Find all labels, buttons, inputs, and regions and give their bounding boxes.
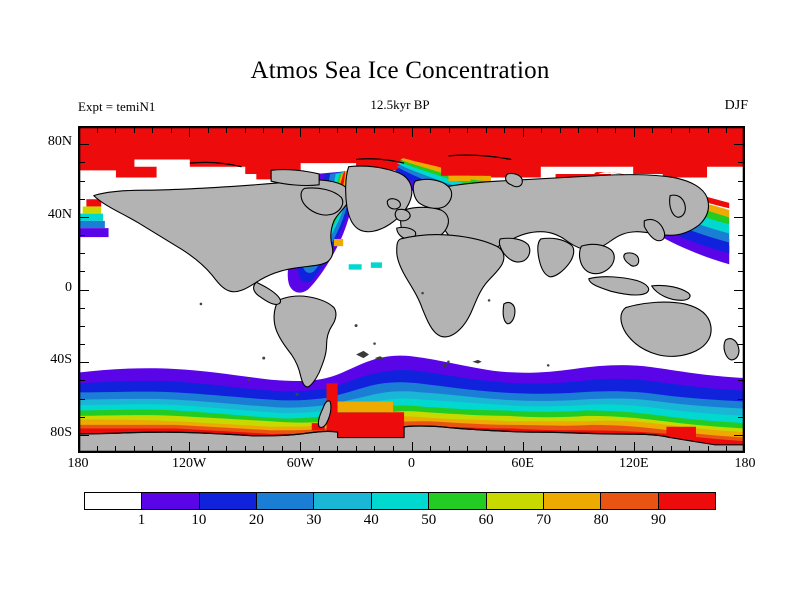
x-tick-top — [412, 126, 413, 137]
x-tick — [263, 446, 264, 453]
x-tick — [337, 446, 338, 453]
x-tick-top — [171, 126, 172, 133]
x-tick — [97, 446, 98, 453]
x-tick — [115, 446, 116, 453]
y-tick — [78, 344, 85, 345]
x-tick-top — [115, 126, 116, 133]
x-tick — [634, 442, 635, 453]
x-tick — [282, 446, 283, 453]
ice-band-90-100-barents — [441, 163, 515, 176]
y-tick-right — [738, 417, 745, 418]
colorbar-cell — [544, 493, 601, 509]
y-tick-right — [734, 144, 745, 145]
x-tick-top — [263, 126, 264, 133]
x-tick — [615, 446, 616, 453]
x-tick-top — [504, 126, 505, 133]
x-tick-top — [671, 126, 672, 133]
x-tick-top — [615, 126, 616, 133]
x-tick — [208, 446, 209, 453]
x-tick-top — [708, 126, 709, 133]
y-tick — [78, 144, 89, 145]
x-axis-label: 180 — [68, 456, 89, 472]
x-tick-top — [337, 126, 338, 133]
x-tick — [356, 446, 357, 453]
ice-patch-alaska-yellow — [83, 206, 101, 213]
colorbar-tick-label: 90 — [651, 512, 666, 529]
colorbar-cell — [659, 493, 715, 509]
colorbar-tick-label: 30 — [306, 512, 321, 529]
x-axis-label: 120E — [619, 456, 649, 472]
y-tick-right — [734, 217, 745, 218]
y-tick — [78, 290, 89, 291]
y-tick-right — [738, 199, 745, 200]
x-tick-top — [152, 126, 153, 133]
y-axis-label: 80S — [50, 425, 72, 441]
x-tick — [486, 446, 487, 453]
world-map — [79, 127, 744, 452]
colorbar-tick-label: 60 — [479, 512, 494, 529]
colorbar-tick-label: 80 — [594, 512, 609, 529]
land-canadian-archipelago — [271, 170, 319, 186]
y-tick — [78, 399, 85, 400]
x-tick — [449, 446, 450, 453]
x-tick — [226, 446, 227, 453]
x-tick-top — [430, 126, 431, 133]
x-axis-label: 0 — [408, 456, 415, 472]
x-tick-top — [689, 126, 690, 133]
colorbar-tick-label: 70 — [536, 512, 551, 529]
y-tick — [78, 162, 85, 163]
colorbar-cell — [200, 493, 257, 509]
x-tick — [671, 446, 672, 453]
x-tick — [504, 446, 505, 453]
y-tick-right — [738, 326, 745, 327]
x-tick-top — [541, 126, 542, 133]
x-tick-top — [634, 126, 635, 137]
land-iceland — [387, 199, 400, 209]
y-tick — [78, 326, 85, 327]
y-tick-right — [734, 435, 745, 436]
y-tick — [78, 271, 85, 272]
y-tick-right — [738, 253, 745, 254]
ice-patch-alaska-blue — [79, 221, 105, 228]
x-tick-top — [449, 126, 450, 133]
x-tick — [652, 446, 653, 453]
y-tick-right — [734, 290, 745, 291]
x-tick — [393, 446, 394, 453]
x-tick-top — [189, 126, 190, 137]
y-tick-right — [738, 181, 745, 182]
x-tick — [189, 442, 190, 453]
colorbar-cell — [257, 493, 314, 509]
ice-patch-70-90-weddell — [338, 401, 393, 412]
map-plot-area — [78, 126, 745, 453]
x-tick — [134, 446, 135, 453]
x-tick-top — [374, 126, 375, 133]
colorbar-cell — [85, 493, 142, 509]
y-axis-label: 80N — [48, 134, 72, 150]
x-axis-label: 60E — [511, 456, 534, 472]
x-tick-top — [393, 126, 394, 133]
x-axis-label: 120W — [172, 456, 206, 472]
x-tick — [467, 446, 468, 453]
x-tick-top — [134, 126, 135, 133]
y-tick-right — [738, 308, 745, 309]
colorbar-tick-label: 50 — [421, 512, 436, 529]
y-tick — [78, 308, 85, 309]
y-axis-label: 40S — [50, 352, 72, 368]
x-tick-top — [208, 126, 209, 133]
x-tick-top — [300, 126, 301, 137]
x-tick — [245, 446, 246, 453]
x-tick-top — [560, 126, 561, 133]
x-tick-top — [282, 126, 283, 133]
x-tick — [560, 446, 561, 453]
x-tick-top — [486, 126, 487, 133]
x-tick — [300, 442, 301, 453]
colorbar-cell — [142, 493, 199, 509]
x-axis-label: 180 — [735, 456, 756, 472]
colorbar-cell — [372, 493, 429, 509]
x-tick — [541, 446, 542, 453]
x-tick — [708, 446, 709, 453]
x-tick — [319, 446, 320, 453]
y-tick — [78, 235, 85, 236]
season-label: DJF — [725, 98, 748, 114]
colorbar-cell — [429, 493, 486, 509]
x-tick-top — [578, 126, 579, 133]
colorbar-tick-label: 10 — [191, 512, 206, 529]
y-tick-right — [738, 162, 745, 163]
y-tick — [78, 181, 85, 182]
colorbar-cell — [487, 493, 544, 509]
figure-canvas: Atmos Sea Ice Concentration 12.5kyr BP E… — [0, 0, 800, 600]
y-tick-right — [738, 399, 745, 400]
x-tick — [726, 446, 727, 453]
y-axis-label: 0 — [65, 280, 72, 296]
y-tick-right — [738, 344, 745, 345]
y-tick — [78, 435, 89, 436]
colorbar-cell — [314, 493, 371, 509]
colorbar-tick-label: 40 — [364, 512, 379, 529]
x-tick — [374, 446, 375, 453]
y-tick-right — [734, 362, 745, 363]
colorbar-tick-label: 20 — [249, 512, 264, 529]
land-british-isles — [395, 209, 410, 221]
y-tick — [78, 199, 85, 200]
x-tick — [689, 446, 690, 453]
x-tick — [523, 442, 524, 453]
y-tick-right — [738, 380, 745, 381]
x-tick — [578, 446, 579, 453]
x-tick — [597, 446, 598, 453]
x-tick-top — [319, 126, 320, 133]
x-axis-label: 60W — [287, 456, 314, 472]
x-tick — [412, 442, 413, 453]
x-tick-top — [226, 126, 227, 133]
y-tick — [78, 362, 89, 363]
x-tick — [171, 446, 172, 453]
colorbar-cell — [601, 493, 658, 509]
x-tick-top — [97, 126, 98, 133]
y-tick-right — [738, 235, 745, 236]
x-tick-top — [523, 126, 524, 137]
x-tick-top — [652, 126, 653, 133]
x-tick-top — [467, 126, 468, 133]
y-tick — [78, 217, 89, 218]
colorbar — [84, 492, 716, 510]
experiment-label: Expt = temiN1 — [78, 99, 155, 115]
x-tick — [152, 446, 153, 453]
y-axis-label: 40N — [48, 207, 72, 223]
x-tick — [430, 446, 431, 453]
x-tick-top — [356, 126, 357, 133]
y-tick — [78, 253, 85, 254]
ice-patch-hudson-orange — [334, 239, 343, 246]
page-title: Atmos Sea Ice Concentration — [0, 57, 800, 85]
x-tick-top — [726, 126, 727, 133]
colorbar-tick-label: 1 — [138, 512, 146, 529]
x-tick-top — [245, 126, 246, 133]
ice-band-70-90-barents — [448, 176, 470, 181]
y-tick-right — [738, 271, 745, 272]
y-tick — [78, 417, 85, 418]
x-tick-top — [597, 126, 598, 133]
y-tick — [78, 380, 85, 381]
